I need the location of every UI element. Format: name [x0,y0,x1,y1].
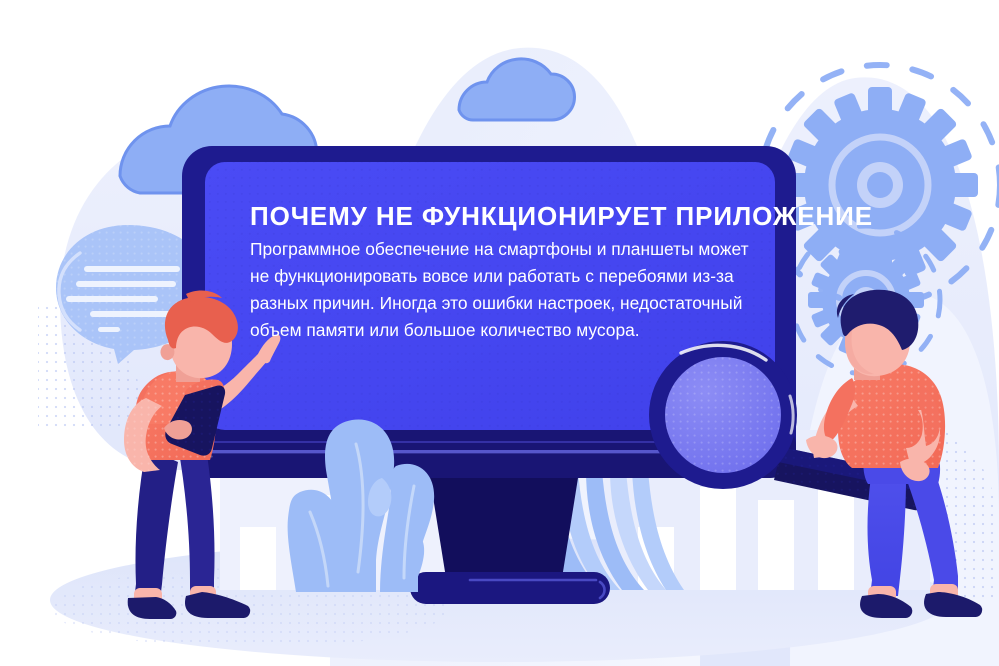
magnifier-lens-dots [665,357,781,473]
illustration-svg [0,0,999,666]
monitor-stand-neck [430,478,578,578]
illustration-canvas: ПОЧЕМУ НЕ ФУНКЦИОНИРУЕТ ПРИЛОЖЕНИЕ Прогр… [0,0,999,666]
monitor-stand-base [410,572,610,604]
